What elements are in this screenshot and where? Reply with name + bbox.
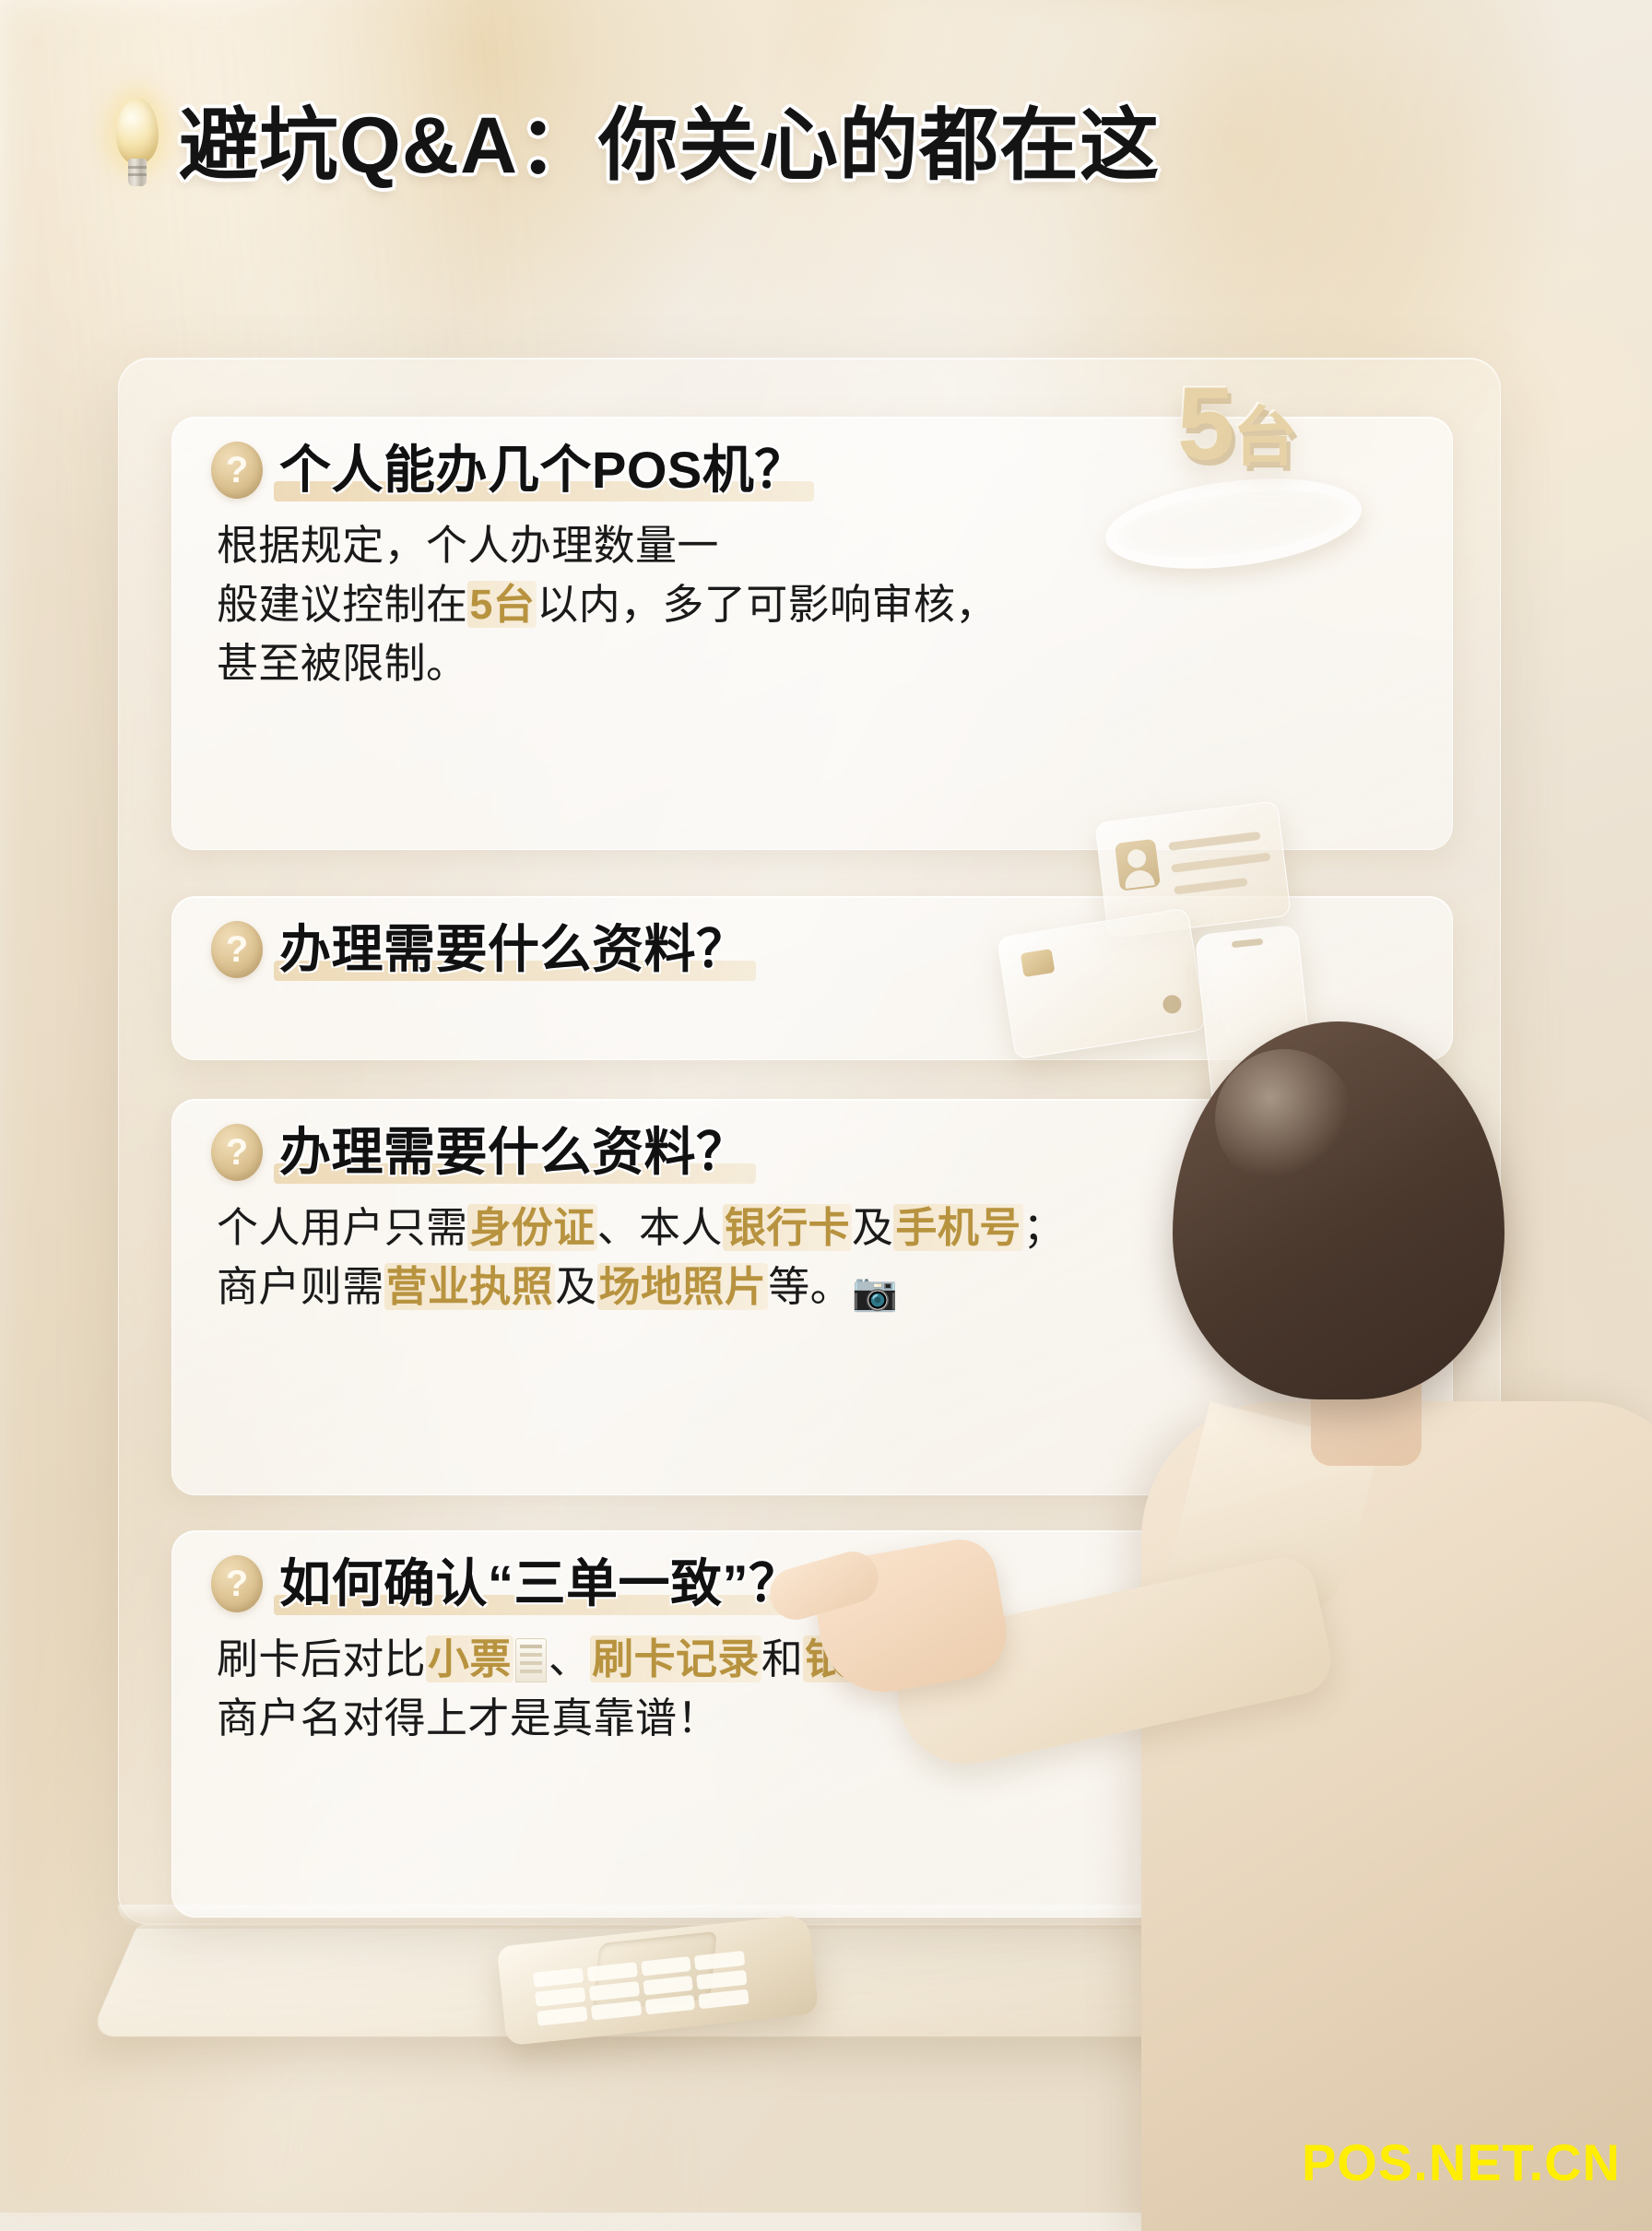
question-text: 个人能办几个POS机？ (279, 442, 807, 500)
five-units-unit: 台 (1233, 401, 1295, 473)
five-units-number: 5 (1177, 366, 1233, 481)
question-text: 办理需要什么资料？ (279, 921, 749, 979)
person-illustration (878, 1005, 1652, 2222)
question-text: 办理需要什么资料？ (279, 1124, 749, 1182)
page-title-row: 避坑Q&A：你关心的都在这 (111, 98, 1160, 194)
highlight-term: 刷卡记录 (590, 1635, 761, 1682)
ring-shape (1100, 466, 1366, 581)
receipt-icon (515, 1638, 547, 1682)
question-mark-icon: ? (211, 1124, 263, 1181)
question-text: 如何确认“三单一致”？ (279, 1555, 801, 1613)
five-units-3d-decoration: 5台 (1095, 372, 1372, 603)
question-mark-icon: ? (211, 921, 263, 978)
five-units-label: 5台 (1112, 372, 1361, 476)
person-hair-highlight (1215, 1049, 1353, 1187)
page-title: 避坑Q&A：你关心的都在这 (179, 106, 1160, 185)
highlight-term: 营业执照 (384, 1263, 556, 1310)
lightbulb-icon (111, 98, 164, 194)
question-mark-icon: ? (211, 442, 263, 499)
question-mark-icon: ? (211, 1555, 263, 1612)
highlight-term: 5台 (467, 581, 537, 628)
highlight-term: 小票 (426, 1635, 513, 1682)
watermark: POS.NET.CN (1302, 2132, 1621, 2192)
highlight-term: 场地照片 (597, 1263, 769, 1310)
pos-terminal-illustration (487, 1817, 855, 2047)
highlight-term: 身份证 (467, 1204, 596, 1251)
highlight-term: 银行卡 (723, 1204, 852, 1251)
answer-line: 甚至被限制。 (217, 634, 1452, 693)
